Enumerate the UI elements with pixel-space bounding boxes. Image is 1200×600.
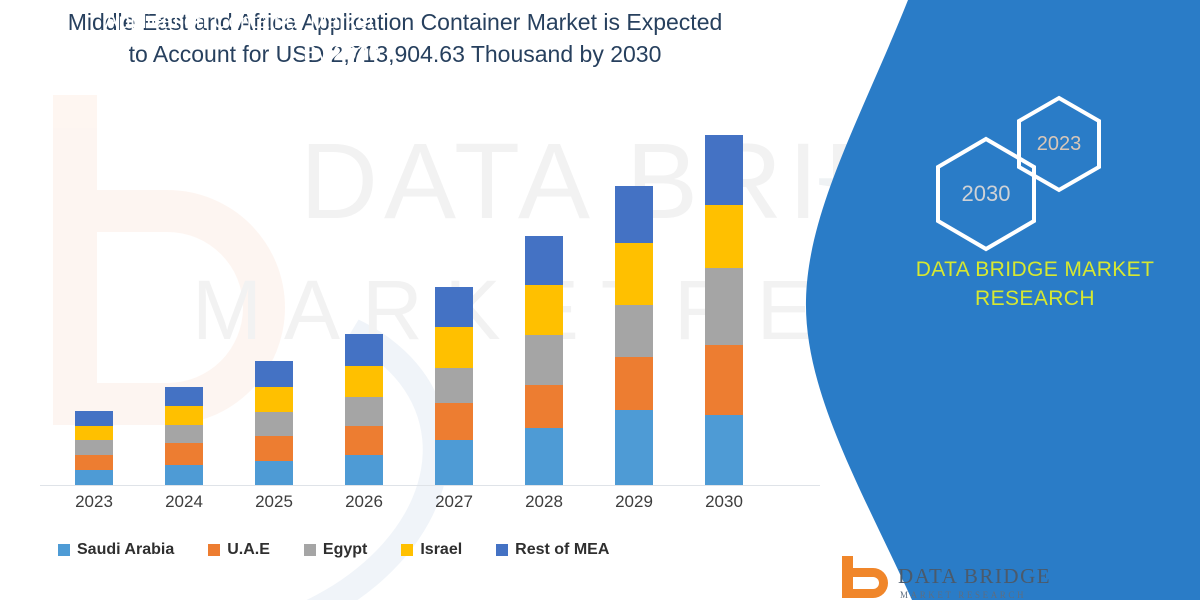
right-panel-content: Application Container Market, By 2030 20… (0, 0, 1200, 600)
data-bridge-logo: DATA BRIDGE MARKET RESEARCH (840, 552, 1070, 598)
logo-wordmark: DATA BRIDGE (898, 564, 1051, 589)
brand-name-heading: DATA BRIDGE MARKET RESEARCH (890, 255, 1180, 313)
hexagon-badge-2030-label: 2030 (962, 181, 1011, 207)
logo-b-bowl-icon (848, 568, 888, 598)
brand-name-line1: DATA BRIDGE MARKET (890, 255, 1180, 284)
hexagon-badge-2030: 2030 (932, 135, 1040, 253)
right-panel-title-line2: By 2030 (40, 38, 380, 70)
logo-tagline: MARKET RESEARCH (900, 590, 1026, 600)
hexagon-badge-2023-label: 2023 (1037, 133, 1082, 156)
brand-name-line2: RESEARCH (890, 284, 1180, 313)
right-panel-title-line1: Application Container Market, (40, 6, 380, 38)
infographic-root: DATA BRIDGE MARKETRESEARCH Middle East a… (0, 0, 1200, 600)
right-panel-title: Application Container Market, By 2030 (40, 6, 380, 70)
